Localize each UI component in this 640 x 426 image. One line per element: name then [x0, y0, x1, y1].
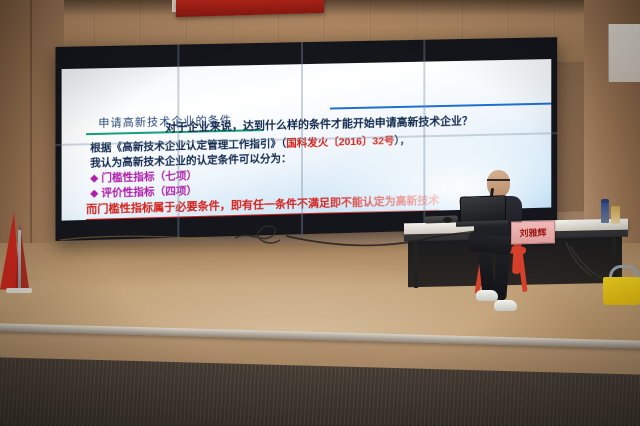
presenter-shoe-right	[494, 300, 517, 311]
yellow-handbag	[603, 277, 640, 305]
water-bottle-gold	[611, 206, 620, 224]
table-leg-left	[414, 236, 418, 288]
glasses-icon	[487, 179, 510, 185]
lecture-room-photo: 申请高新技术企业的条件 对于企业来说，达到什么样的条件才能开始申请高新技术企业？…	[0, 0, 640, 426]
flag-pole	[18, 230, 21, 292]
bullet-marker-2: ◆	[90, 187, 98, 199]
presenter-shoe-left	[476, 290, 498, 301]
bullet-marker-1: ◆	[90, 172, 98, 184]
desk-equipment	[424, 215, 458, 223]
slide-rule-blue	[330, 102, 551, 109]
water-bottle-blue	[601, 203, 609, 223]
bullet-label-2: 评价性指标（四项）	[101, 185, 197, 200]
placard-name-text: 刘雅辉	[519, 226, 546, 240]
flag-stand-secondary	[13, 224, 29, 290]
wall-mounted-unit	[608, 24, 640, 82]
mouse-icon[interactable]	[443, 217, 452, 223]
warning-line-2: 企业。	[86, 219, 120, 221]
flag-base	[6, 288, 32, 293]
line2-before: 我认为高新技术企业的认定条件可以分为：	[90, 152, 291, 169]
name-placard: 刘雅辉	[511, 220, 555, 244]
bullet-label-1: 门槛性指标（七项）	[101, 170, 197, 184]
